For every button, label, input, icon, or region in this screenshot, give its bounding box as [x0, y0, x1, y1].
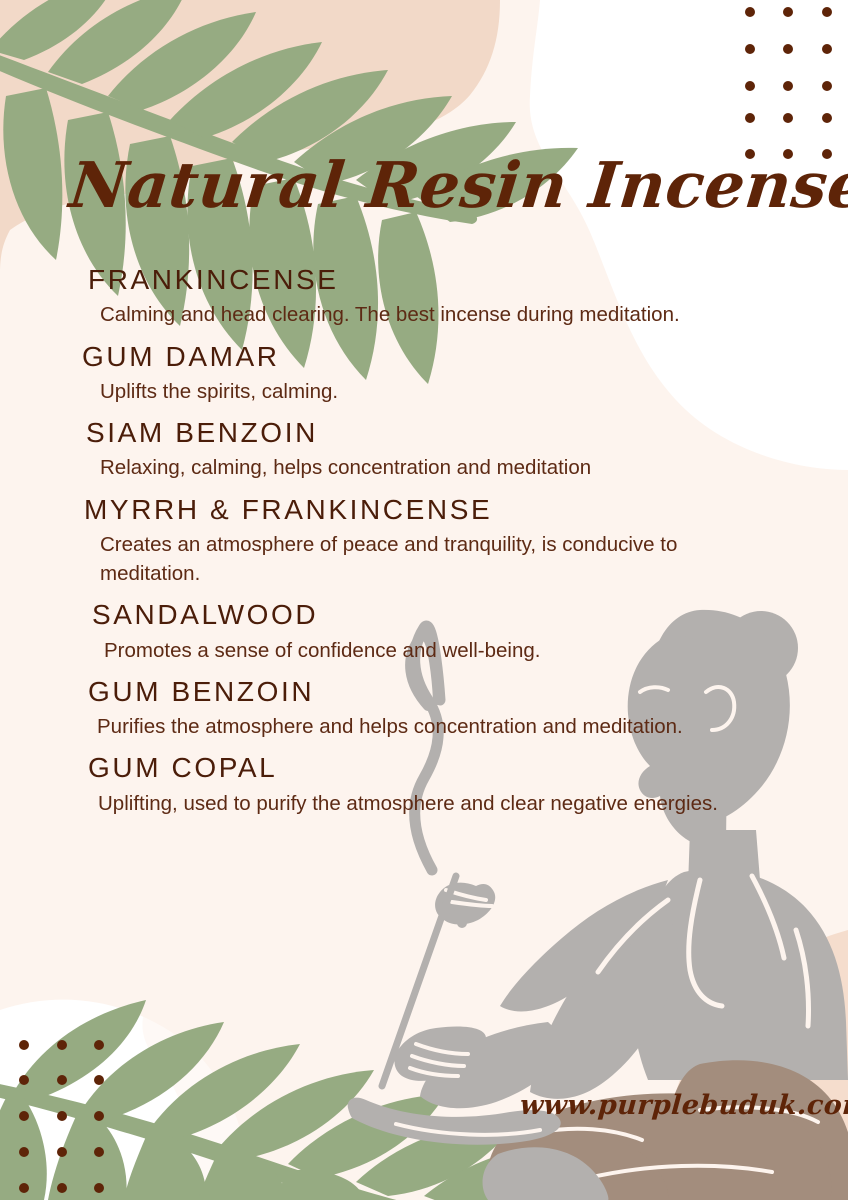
website-url[interactable]: www.purplebuduk.com — [519, 1090, 848, 1121]
incense-name: SANDALWOOD — [0, 597, 760, 633]
incense-name: MYRRH & FRANKINCENSE — [0, 492, 760, 528]
tank-strap-right — [752, 876, 784, 958]
finger-crease — [416, 1044, 468, 1054]
finger-crease-3 — [410, 1068, 458, 1076]
page-title: Natural Resin Incense — [67, 152, 804, 218]
tank-strap-left — [689, 880, 722, 1006]
list-item: GUM BENZOIN Purifies the atmosphere and … — [0, 674, 760, 742]
arm-seam — [598, 900, 668, 972]
tray-highlight — [396, 1124, 540, 1135]
list-item: GUM DAMAR Uplifts the spirits, calming. — [0, 339, 760, 407]
incense-description: Relaxing, calming, helps concentration a… — [0, 451, 740, 482]
knee-seam — [540, 1129, 642, 1140]
list-item: SANDALWOOD Promotes a sense of confidenc… — [0, 597, 760, 665]
white-blob-bottom-left — [0, 1000, 250, 1200]
thigh-seam — [588, 1166, 772, 1178]
lower-hand — [395, 1026, 486, 1080]
list-item: MYRRH & FRANKINCENSE Creates an atmosphe… — [0, 492, 760, 589]
peach-blob-bottom-right — [658, 930, 848, 1200]
list-item: SIAM BENZOIN Relaxing, calming, helps co… — [0, 415, 760, 483]
poster-canvas: Natural Resin Incense FRANKINCENSE Calmi… — [0, 0, 848, 1200]
front-knee — [483, 1147, 609, 1200]
incense-description: Uplifts the spirits, calming. — [0, 375, 740, 406]
cream-blob-bottom-left — [142, 993, 378, 1200]
incense-name: FRANKINCENSE — [0, 262, 760, 298]
torso — [633, 869, 848, 1080]
neck — [688, 830, 760, 886]
incense-name: GUM COPAL — [0, 750, 760, 786]
calf — [488, 1127, 668, 1200]
incense-description: Creates an atmosphere of peace and tranq… — [0, 528, 740, 588]
incense-name: SIAM BENZOIN — [0, 415, 760, 451]
incense-description: Purifies the atmosphere and helps concen… — [0, 710, 737, 741]
list-item: GUM COPAL Uplifting, used to purify the … — [0, 750, 760, 818]
list-item: FRANKINCENSE Calming and head clearing. … — [0, 262, 760, 330]
raised-arm — [500, 880, 668, 1011]
incense-list: FRANKINCENSE Calming and head clearing. … — [0, 262, 760, 821]
upper-arm — [530, 900, 677, 1099]
shirt-seam — [796, 930, 809, 1026]
incense-stick-icon — [382, 876, 456, 1086]
incense-description: Promotes a sense of confidence and well-… — [0, 634, 744, 665]
shorts — [666, 1060, 848, 1200]
incense-name: GUM BENZOIN — [0, 674, 760, 710]
dot-grid-bottom-left — [19, 1040, 104, 1193]
hand-crease — [446, 890, 486, 900]
incense-description: Calming and head clearing. The best ince… — [0, 298, 740, 329]
incense-name: GUM DAMAR — [0, 339, 760, 375]
raised-hand — [435, 883, 495, 925]
dot-grid-top-right — [745, 7, 832, 159]
incense-description: Uplifting, used to purify the atmosphere… — [0, 787, 738, 818]
finger-crease-2 — [412, 1056, 464, 1066]
hand-crease-2 — [452, 902, 492, 906]
